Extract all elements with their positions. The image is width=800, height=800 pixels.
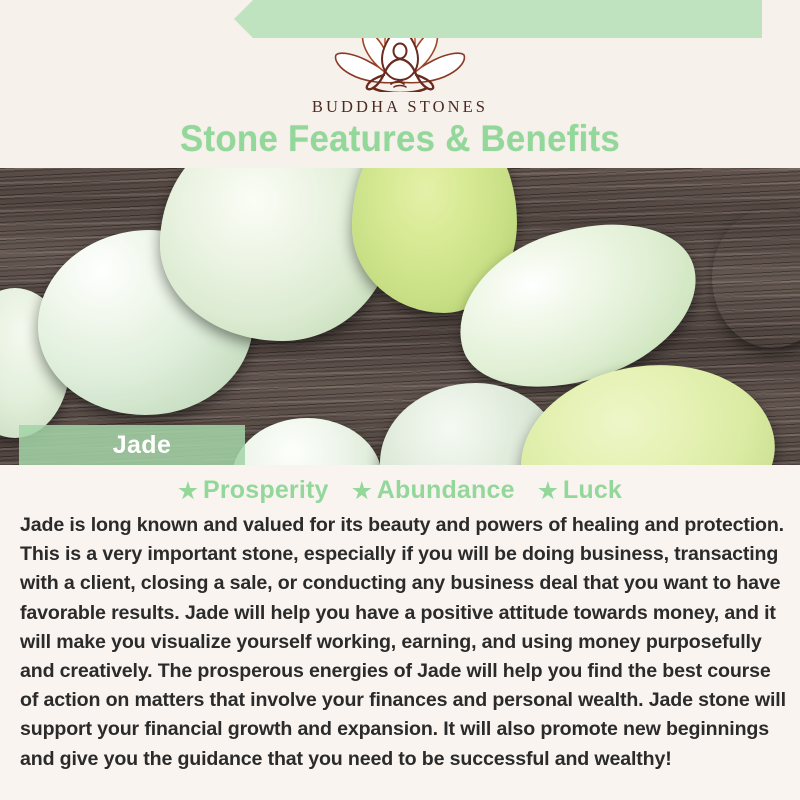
- star-icon: [352, 481, 372, 501]
- content-panel: Prosperity Abundance Luck Jade is long k…: [0, 465, 800, 800]
- star-icon: [178, 481, 198, 501]
- benefit-item-2: Luck: [538, 476, 622, 505]
- benefit-label-0: Prosperity: [203, 476, 329, 504]
- benefit-item-1: Abundance: [352, 476, 515, 505]
- benefit-item-0: Prosperity: [178, 476, 329, 505]
- page-title-text: Stone Features & Benefits: [180, 118, 620, 160]
- benefit-label-2: Luck: [563, 476, 622, 504]
- stone-photo: [0, 168, 800, 465]
- stone-description: Jade is long known and valued for its be…: [20, 511, 786, 774]
- stone-name-band: Jade: [19, 425, 245, 465]
- benefit-label-1: Abundance: [377, 476, 515, 504]
- poster: Jade: [0, 0, 800, 800]
- benefits-list: Prosperity Abundance Luck: [0, 476, 800, 505]
- star-icon: [538, 481, 558, 501]
- decorative-band-top: [215, 0, 800, 38]
- page-title: Stone Features & Benefits: [0, 118, 800, 160]
- stone-name-label: Jade: [19, 431, 245, 460]
- brand-name: BUDDHA STONES: [0, 97, 800, 117]
